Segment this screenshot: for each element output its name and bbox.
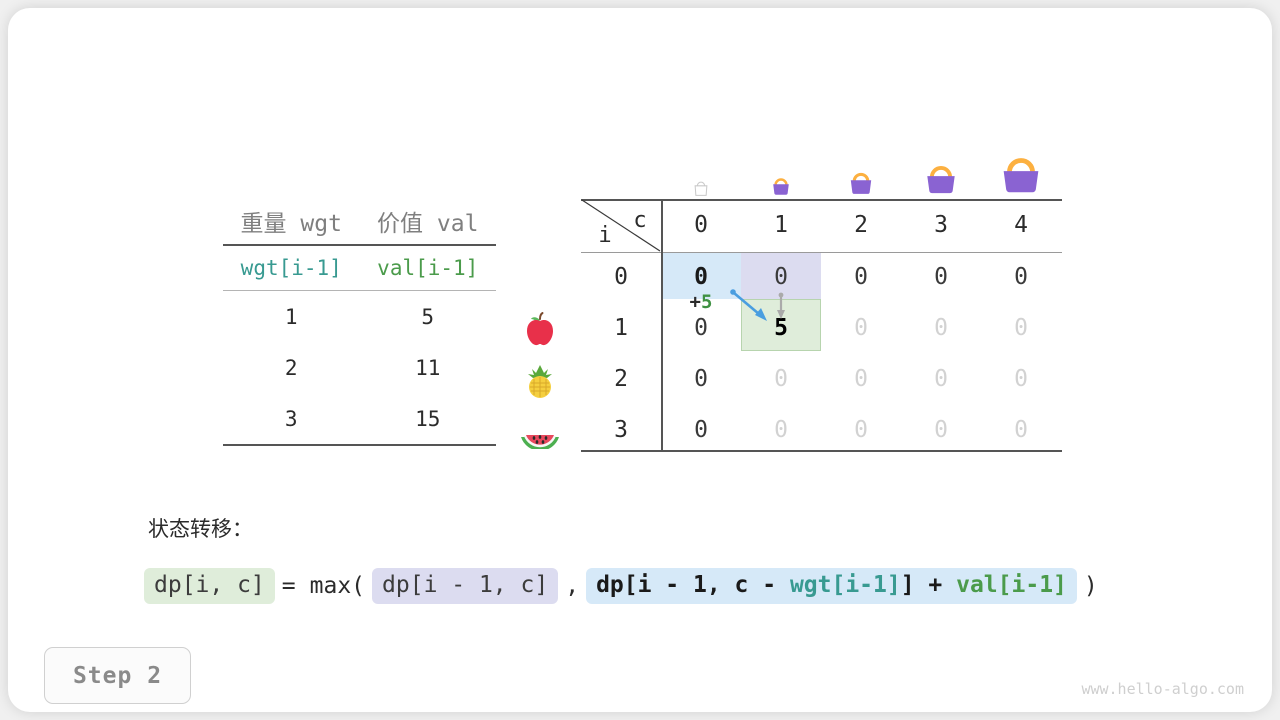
step-badge: Step 2 bbox=[44, 647, 191, 704]
formula-max-open: max( bbox=[303, 573, 372, 599]
value-gain-annotation: +5 bbox=[661, 291, 741, 313]
formula-take-val: val[i-1] bbox=[956, 572, 1067, 598]
items-header-weight: 重量 wgt bbox=[223, 198, 360, 245]
bag-size-3-icon bbox=[901, 157, 981, 199]
item-icons-column bbox=[508, 304, 572, 457]
value-gain-prefix: + bbox=[690, 291, 701, 313]
dp-cell-0-2: 0 bbox=[821, 264, 901, 290]
dp-cell-1-3: 0 bbox=[901, 315, 981, 341]
dp-cell-0-1: 0 bbox=[741, 264, 821, 290]
dp-col-header-1: 1 bbox=[741, 212, 821, 238]
formula-option-skip: dp[i - 1, c] bbox=[372, 568, 558, 604]
formula-option-take: dp[i - 1, c - wgt[i-1]] + val[i-1] bbox=[586, 568, 1077, 604]
formula-comma: , bbox=[558, 573, 586, 599]
dp-cell-3-3: 0 bbox=[901, 417, 981, 443]
item-1-weight: 1 bbox=[223, 291, 360, 343]
formula-take-prefix: dp[i - 1, c - bbox=[596, 572, 790, 598]
table-row: 1 5 bbox=[223, 291, 496, 343]
dp-cell-3-4: 0 bbox=[981, 417, 1061, 443]
dp-col-header-3: 3 bbox=[901, 212, 981, 238]
dp-cell-1-0: 0 bbox=[661, 315, 741, 341]
formula-lhs: dp[i, c] bbox=[144, 568, 275, 604]
dp-cell-0-4: 0 bbox=[981, 264, 1061, 290]
dp-cell-3-1: 0 bbox=[741, 417, 821, 443]
dp-row-header-1: 1 bbox=[581, 315, 661, 341]
bag-capacity-icons bbox=[581, 134, 1062, 199]
content-card: 重量 wgt 价值 val wgt[i-1] val[i-1] 1 5 2 11… bbox=[8, 8, 1272, 712]
dp-table: i c 0 1 2 3 4 0 1 2 3 0 0 0 0 0 0 5 0 0 … bbox=[581, 134, 1062, 452]
dp-cell-0-0: 0 bbox=[661, 264, 741, 290]
dp-row-header-2: 2 bbox=[581, 366, 661, 392]
watermelon-icon bbox=[508, 406, 572, 457]
bag-size-2-icon bbox=[821, 165, 901, 199]
dp-row-header-0: 0 bbox=[581, 264, 661, 290]
dp-cell-1-1: 5 bbox=[741, 315, 821, 341]
transition-formula: dp[i, c] = max( dp[i - 1, c] , dp[i - 1,… bbox=[144, 568, 1105, 604]
item-3-value: 15 bbox=[360, 393, 497, 445]
items-subheader-wgt: wgt[i-1] bbox=[223, 245, 360, 291]
pineapple-icon bbox=[508, 355, 572, 406]
dp-table-bottom-border bbox=[581, 450, 1062, 452]
dp-cell-2-1: 0 bbox=[741, 366, 821, 392]
transition-label: 状态转移： bbox=[148, 513, 253, 543]
dp-cell-1-4: 0 bbox=[981, 315, 1061, 341]
table-row: 2 11 bbox=[223, 342, 496, 393]
items-header-value: 价值 val bbox=[360, 198, 497, 245]
table-row: 3 15 bbox=[223, 393, 496, 445]
dp-cell-0-3: 0 bbox=[901, 264, 981, 290]
dp-table-header-border bbox=[581, 252, 1062, 253]
apple-icon bbox=[508, 304, 572, 355]
dp-cell-2-2: 0 bbox=[821, 366, 901, 392]
bag-size-4-icon bbox=[981, 147, 1061, 199]
dp-cell-2-4: 0 bbox=[981, 366, 1061, 392]
dp-col-header-0: 0 bbox=[661, 212, 741, 238]
item-1-value: 5 bbox=[360, 291, 497, 343]
items-table-header-row: 重量 wgt 价值 val bbox=[223, 198, 496, 245]
item-3-weight: 3 bbox=[223, 393, 360, 445]
formula-take-wgt: wgt[i-1] bbox=[790, 572, 901, 598]
dp-cell-3-2: 0 bbox=[821, 417, 901, 443]
dp-axis-label-i: i bbox=[587, 223, 623, 248]
dp-col-header-4: 4 bbox=[981, 212, 1061, 238]
bag-empty-icon bbox=[661, 177, 741, 199]
formula-equals: = bbox=[275, 573, 303, 599]
item-2-value: 11 bbox=[360, 342, 497, 393]
items-table-subheader-row: wgt[i-1] val[i-1] bbox=[223, 245, 496, 291]
dp-cell-1-2: 0 bbox=[821, 315, 901, 341]
items-table: 重量 wgt 价值 val wgt[i-1] val[i-1] 1 5 2 11… bbox=[223, 198, 496, 446]
dp-col-header-2: 2 bbox=[821, 212, 901, 238]
formula-max-close: ) bbox=[1077, 573, 1105, 599]
dp-cell-2-3: 0 bbox=[901, 366, 981, 392]
items-subheader-val: val[i-1] bbox=[360, 245, 497, 291]
bag-size-1-icon bbox=[741, 171, 821, 199]
formula-take-mid: ] + bbox=[901, 572, 956, 598]
item-2-weight: 2 bbox=[223, 342, 360, 393]
value-gain-amount: 5 bbox=[701, 291, 712, 313]
dp-cell-3-0: 0 bbox=[661, 417, 741, 443]
dp-row-header-3: 3 bbox=[581, 417, 661, 443]
watermark: www.hello-algo.com bbox=[1081, 680, 1244, 698]
dp-cell-2-0: 0 bbox=[661, 366, 741, 392]
screenshot-canvas: 重量 wgt 价值 val wgt[i-1] val[i-1] 1 5 2 11… bbox=[0, 0, 1280, 720]
dp-axis-label-c: c bbox=[623, 208, 657, 233]
